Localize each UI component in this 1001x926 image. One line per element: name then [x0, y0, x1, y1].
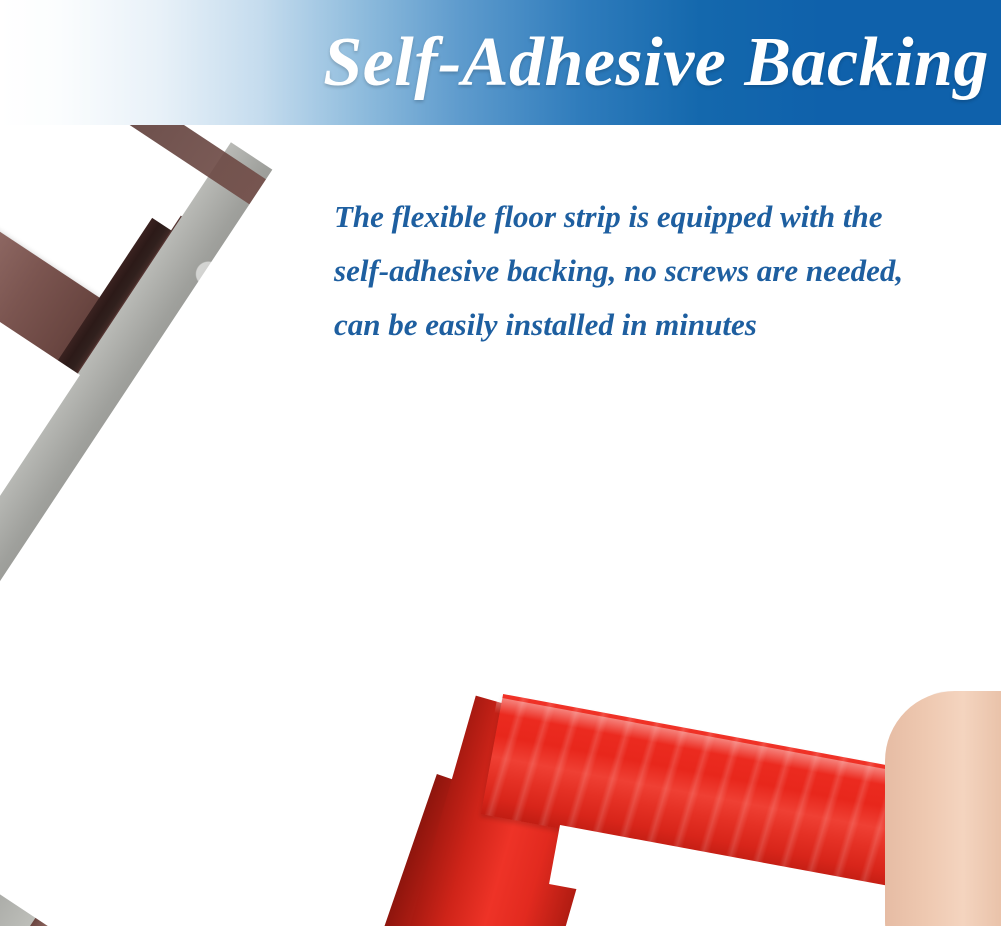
finger-peeling-liner — [885, 691, 1001, 926]
description-block: The flexible floor strip is equipped wit… — [334, 190, 974, 352]
description-line-1: The flexible floor strip is equipped wit… — [334, 190, 974, 244]
description-line-3: can be easily installed in minutes — [334, 298, 974, 352]
product-feature-image: Self-Adhesive Backing The flexible floor… — [0, 0, 1001, 926]
header-banner: Self-Adhesive Backing — [0, 0, 1001, 125]
description-line-2: self-adhesive backing, no screws are nee… — [334, 244, 974, 298]
page-title: Self-Adhesive Backing — [0, 0, 995, 125]
